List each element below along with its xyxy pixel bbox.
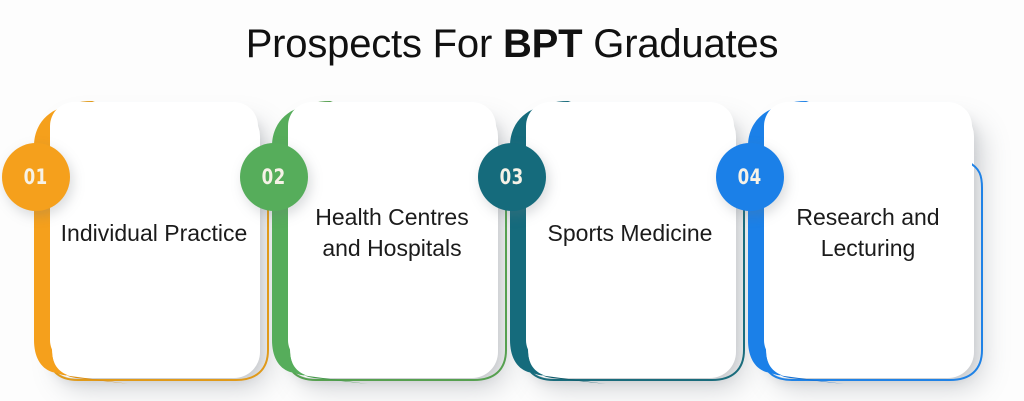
card-label: Health Centres and Hospitals [298, 202, 486, 264]
card-number: 03 [500, 165, 524, 189]
title-bar: Prospects For BPT Graduates [0, 0, 1024, 88]
page-title-emphasis: BPT [503, 22, 582, 66]
card-label-wrap: Health Centres and Hospitals [288, 102, 496, 364]
card-unit[interactable]: Individual Practice01 [18, 88, 278, 401]
card-label-wrap: Research and Lecturing [764, 102, 972, 364]
card-number: 01 [24, 165, 48, 189]
card-number-badge[interactable]: 03 [478, 143, 546, 211]
card-unit[interactable]: Research and Lecturing04 [732, 88, 992, 401]
card-label-wrap: Individual Practice [50, 102, 258, 364]
card-label-wrap: Sports Medicine [526, 102, 734, 364]
page-title-after: Graduates [582, 22, 778, 66]
card-stage: Individual Practice01Health Centres and … [0, 88, 1024, 401]
card-unit[interactable]: Health Centres and Hospitals02 [256, 88, 516, 401]
card-number-badge[interactable]: 04 [716, 143, 784, 211]
card-number: 02 [262, 165, 286, 189]
card-label: Individual Practice [61, 218, 248, 249]
card-number: 04 [738, 165, 762, 189]
card-number-badge[interactable]: 02 [240, 143, 308, 211]
page-title: Prospects For BPT Graduates [246, 24, 779, 64]
card-label: Research and Lecturing [774, 202, 962, 264]
card-unit[interactable]: Sports Medicine03 [494, 88, 754, 401]
page-title-before: Prospects For [246, 22, 503, 66]
card-number-badge[interactable]: 01 [2, 143, 70, 211]
card-label: Sports Medicine [548, 218, 713, 249]
